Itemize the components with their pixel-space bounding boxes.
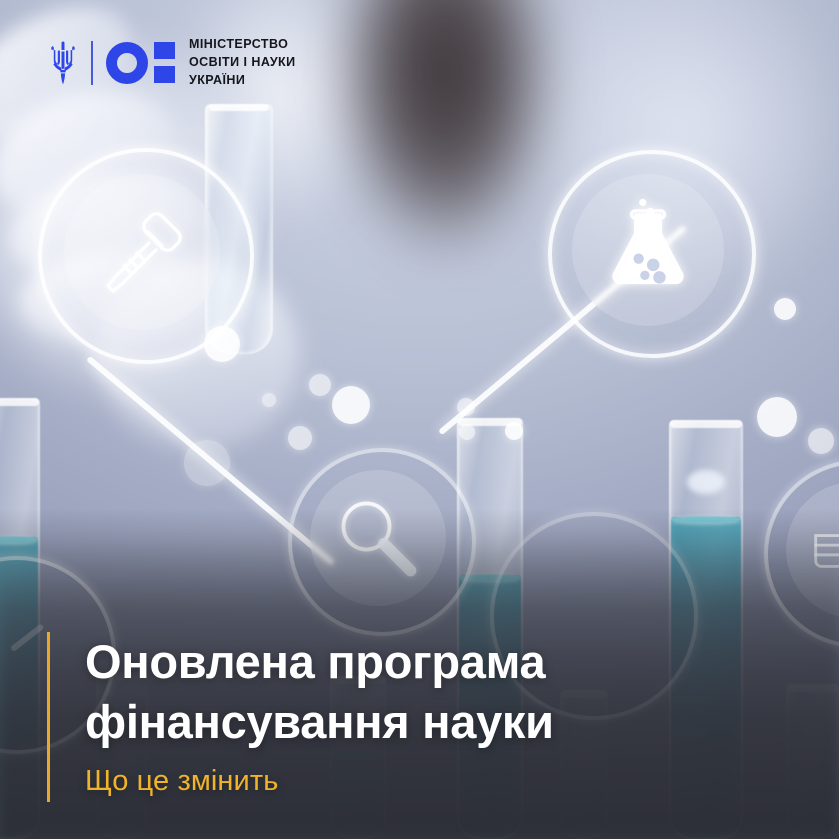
decor-dot	[184, 440, 230, 486]
logo-divider	[91, 41, 93, 85]
decor-dot	[332, 386, 370, 424]
o-circle-shape	[106, 42, 148, 84]
social-media-card: МІНІСТЕРСТВО ОСВІТИ І НАУКИ УКРАЇНИ Онов…	[0, 0, 839, 839]
accent-bar	[47, 632, 50, 802]
page-title: Оновлена програма фінансування науки	[85, 632, 554, 752]
decor-dot	[774, 298, 796, 320]
decor-dot	[309, 374, 331, 396]
ministry-name: МІНІСТЕРСТВО ОСВІТИ І НАУКИ УКРАЇНИ	[189, 36, 296, 89]
decor-dot	[288, 426, 312, 450]
hero-text-block: Оновлена програма фінансування науки Що …	[47, 632, 554, 802]
decor-dot	[808, 428, 834, 454]
decor-dot	[757, 397, 797, 437]
ministry-logo: МІНІСТЕРСТВО ОСВІТИ І НАУКИ УКРАЇНИ	[48, 36, 296, 89]
ukraine-trident-icon	[48, 40, 78, 86]
decor-dot	[262, 393, 276, 407]
flask-icon	[596, 186, 700, 298]
page-subtitle: Що це змінить	[85, 765, 554, 798]
decor-dot	[505, 422, 523, 440]
decor-dot	[457, 398, 475, 416]
pipette-icon	[92, 202, 192, 302]
o-bars-shape	[154, 42, 175, 83]
decor-dot	[204, 326, 240, 362]
decor-dot	[459, 424, 475, 440]
mon-o-mark-icon	[106, 42, 175, 84]
